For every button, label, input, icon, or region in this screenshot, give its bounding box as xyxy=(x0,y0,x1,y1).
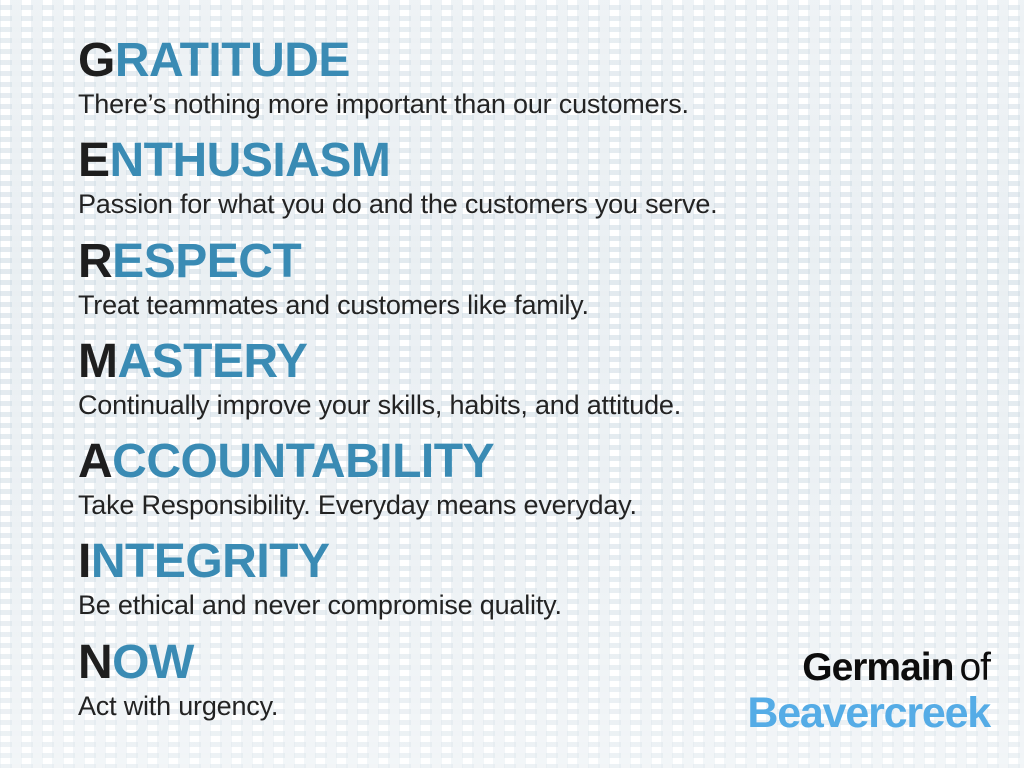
value-heading-remainder: CCOUNTABILITY xyxy=(112,435,494,488)
value-initial-letter: N xyxy=(78,636,112,689)
logo-location-name: Beavercreek xyxy=(747,691,990,736)
value-initial-letter: E xyxy=(78,134,110,187)
value-heading-remainder: RATITUDE xyxy=(115,34,350,87)
value-heading-integrity: INTEGRITY xyxy=(78,537,978,587)
value-item-mastery: MASTERY Continually improve your skills,… xyxy=(78,337,978,421)
value-description-accountability: Take Responsibility. Everyday means ever… xyxy=(78,489,978,521)
logo-brand-name: Germain xyxy=(802,646,953,689)
values-poster: GRATITUDE There’s nothing more important… xyxy=(0,0,1024,768)
dealership-logo: Germainof Beavercreek xyxy=(747,648,990,736)
value-description-enthusiasm: Passion for what you do and the customer… xyxy=(78,188,978,220)
value-heading-accountability: ACCOUNTABILITY xyxy=(78,437,978,487)
value-heading-remainder: NTHUSIASM xyxy=(110,134,391,187)
value-heading-remainder: ASTERY xyxy=(117,335,307,388)
value-heading-remainder: NTEGRITY xyxy=(91,535,330,588)
value-initial-letter: G xyxy=(78,34,115,87)
logo-primary-line: Germainof xyxy=(747,648,990,689)
value-item-respect: RESPECT Treat teammates and customers li… xyxy=(78,237,978,321)
value-heading-gratitude: GRATITUDE xyxy=(78,36,978,86)
logo-connector-word: of xyxy=(959,646,990,689)
value-item-enthusiasm: ENTHUSIASM Passion for what you do and t… xyxy=(78,136,978,220)
value-initial-letter: R xyxy=(78,235,112,288)
value-initial-letter: I xyxy=(78,535,91,588)
value-description-integrity: Be ethical and never compromise quality. xyxy=(78,589,978,621)
value-description-respect: Treat teammates and customers like famil… xyxy=(78,289,978,321)
value-item-integrity: INTEGRITY Be ethical and never compromis… xyxy=(78,537,978,621)
value-heading-enthusiasm: ENTHUSIASM xyxy=(78,136,978,186)
core-values-list: GRATITUDE There’s nothing more important… xyxy=(78,36,978,722)
value-description-mastery: Continually improve your skills, habits,… xyxy=(78,389,978,421)
value-heading-remainder: ESPECT xyxy=(112,235,301,288)
value-description-gratitude: There’s nothing more important than our … xyxy=(78,88,978,120)
value-heading-mastery: MASTERY xyxy=(78,337,978,387)
value-initial-letter: A xyxy=(78,435,112,488)
value-item-accountability: ACCOUNTABILITY Take Responsibility. Ever… xyxy=(78,437,978,521)
value-heading-respect: RESPECT xyxy=(78,237,978,287)
value-heading-remainder: OW xyxy=(112,636,194,689)
value-item-gratitude: GRATITUDE There’s nothing more important… xyxy=(78,36,978,120)
value-initial-letter: M xyxy=(78,335,117,388)
